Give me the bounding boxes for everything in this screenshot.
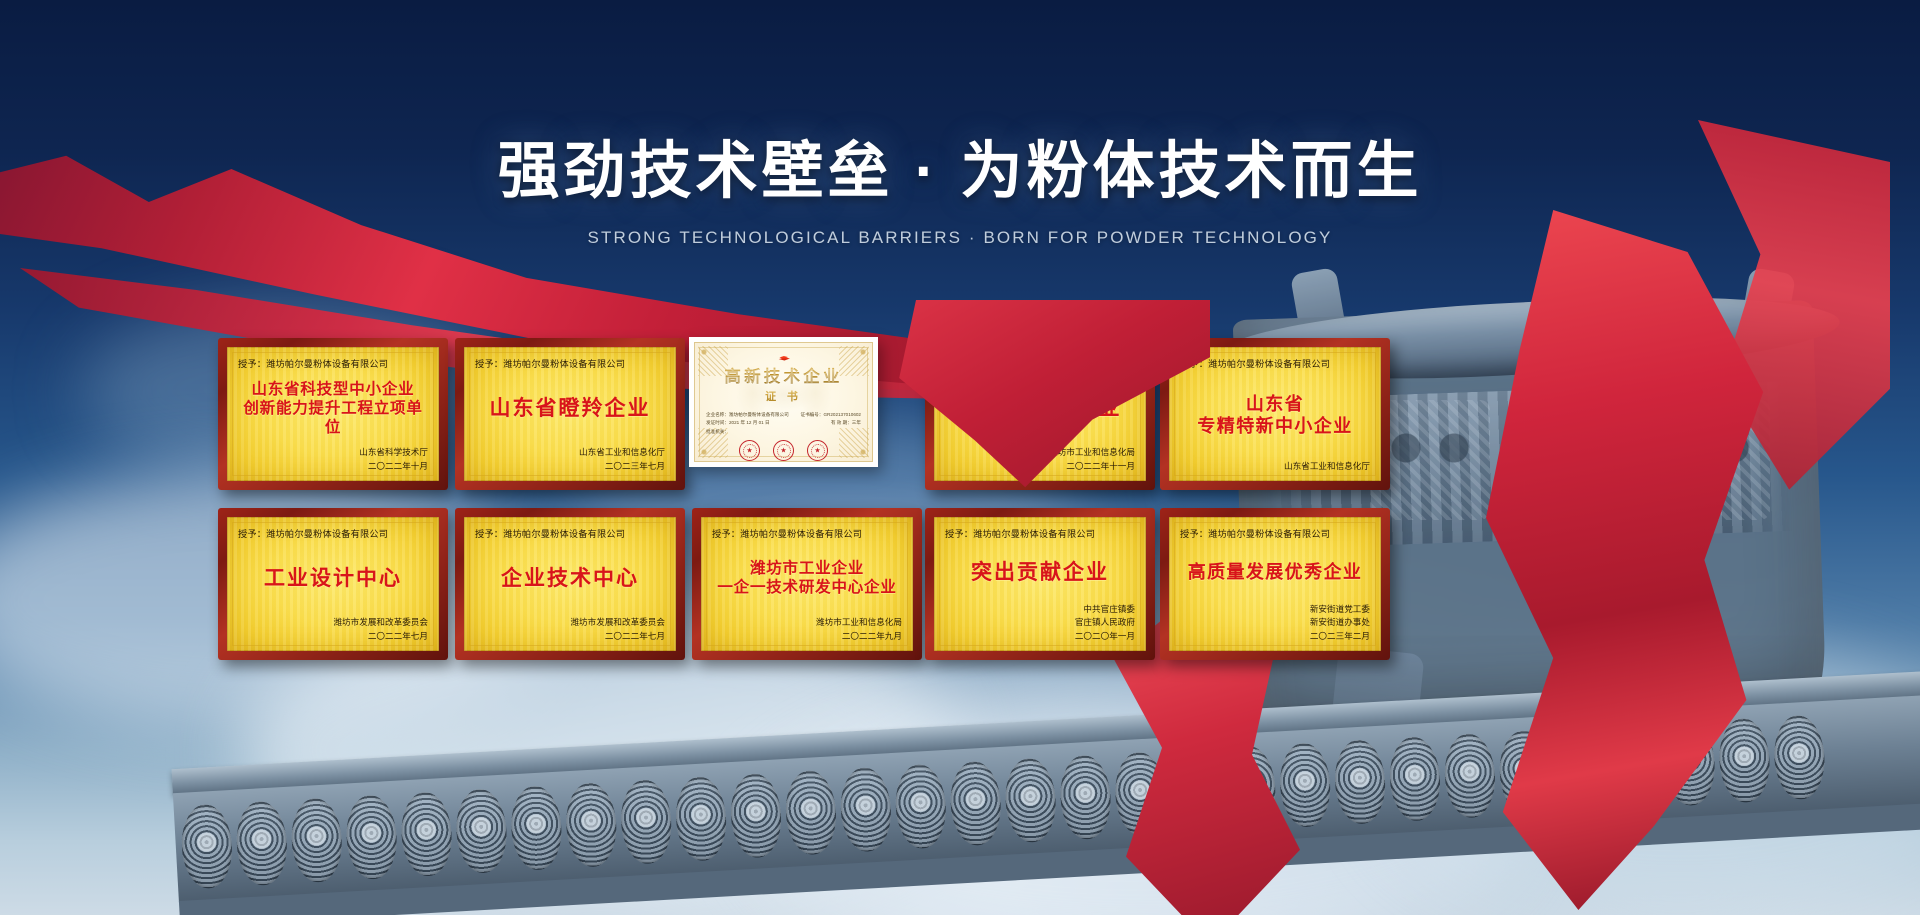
red-star-seal-icon (807, 440, 828, 461)
plaque-issuer: 潍坊市发展和改革委员会二〇二二年七月 (475, 616, 665, 643)
plaque-title-line: 专精特新中小企业 (1180, 416, 1370, 438)
plaque-issuer: 山东省科学技术厅二〇二二年十月 (238, 446, 428, 473)
plaque-title: 山东省专精特新中小企业 (1180, 394, 1370, 438)
plaque-awardee-line: 授予：潍坊帕尔曼粉体设备有限公司 (945, 526, 1135, 540)
plaque-issuer-line: 潍坊市工业和信息化局 (712, 616, 902, 629)
plaque-title-line: 创新能力提升工程立项单位 (238, 400, 428, 438)
certificate-field-row: 批准机关： (706, 428, 861, 436)
certificate-field-right: 有 效 期：三年 (831, 419, 861, 427)
plaque-issuer-line: 官庄镇人民政府 (945, 616, 1135, 629)
plaque-title-line: 一企一技术研发中心企业 (712, 579, 902, 598)
award-plaque[interactable]: 授予：潍坊帕尔曼粉体设备有限公司企业技术中心潍坊市发展和改革委员会二〇二二年七月 (455, 508, 685, 660)
certificate-inner: 高新技术企业 证 书 企业名称：潍坊帕尔曼粉体设备有限公司证书编号：GR2021… (694, 342, 873, 462)
award-plaque[interactable]: 授予：潍坊帕尔曼粉体设备有限公司“隐形冠军”企业潍坊市工业和信息化局二〇二二年十… (925, 338, 1155, 490)
plaque-awardee-line: 授予：潍坊帕尔曼粉体设备有限公司 (238, 526, 428, 540)
plaque-issuer-line: 二〇二三年七月 (475, 460, 665, 473)
banner-stage: 强劲技术壁垒 · 为粉体技术而生 STRONG TECHNOLOGICAL BA… (0, 0, 1920, 915)
plaque-face: 授予：潍坊帕尔曼粉体设备有限公司山东省专精特新中小企业山东省工业和信息化厅 (1169, 347, 1381, 481)
plaque-issuer: 山东省工业和信息化厅 (1180, 460, 1370, 473)
plaque-issuer-line: 山东省科学技术厅 (238, 446, 428, 459)
red-star-seal-icon (739, 440, 760, 461)
plaque-issuer-line: 二〇二二年七月 (238, 630, 428, 643)
gold-corner-ornament-icon (839, 346, 869, 376)
award-plaque[interactable]: 授予：潍坊帕尔曼粉体设备有限公司山东省科技型中小企业创新能力提升工程立项单位山东… (218, 338, 448, 490)
certificate-field-right: 证书编号：GR202137010602 (800, 411, 861, 419)
plaque-title-line: 突出贡献企业 (945, 560, 1135, 586)
plaque-awardee-line: 授予：潍坊帕尔曼粉体设备有限公司 (945, 356, 1135, 370)
plaque-issuer-line: 二〇二二年十月 (238, 460, 428, 473)
plaque-title: 企业技术中心 (475, 566, 665, 592)
plaque-face: 授予：潍坊帕尔曼粉体设备有限公司山东省科技型中小企业创新能力提升工程立项单位山东… (227, 347, 439, 481)
certificate-subtitle: 证 书 (765, 388, 802, 404)
plaque-face: 授予：潍坊帕尔曼粉体设备有限公司“隐形冠军”企业潍坊市工业和信息化局二〇二二年十… (934, 347, 1146, 481)
plaque-issuer-line: 二〇二三年二月 (1180, 630, 1370, 643)
plaque-awardee-line: 授予：潍坊帕尔曼粉体设备有限公司 (238, 356, 428, 370)
page-title: 强劲技术壁垒 · 为粉体技术而生 (0, 138, 1920, 206)
plaque-face: 授予：潍坊帕尔曼粉体设备有限公司潍坊市工业企业一企一技术研发中心企业潍坊市工业和… (701, 517, 913, 651)
plaque-awardee-line: 授予：潍坊帕尔曼粉体设备有限公司 (712, 526, 902, 540)
certificate-field-row: 企业名称：潍坊帕尔曼粉体设备有限公司证书编号：GR202137010602 (706, 411, 861, 419)
plaque-face: 授予：潍坊帕尔曼粉体设备有限公司突出贡献企业中共官庄镇委官庄镇人民政府二〇二〇年… (934, 517, 1146, 651)
plaque-issuer-line: 二〇二二年九月 (712, 630, 902, 643)
plaque-issuer-line: 山东省工业和信息化厅 (475, 446, 665, 459)
plaque-issuer: 中共官庄镇委官庄镇人民政府二〇二〇年一月 (945, 603, 1135, 643)
headline-block: 强劲技术壁垒 · 为粉体技术而生 STRONG TECHNOLOGICAL BA… (0, 138, 1920, 248)
plaque-awardee-line: 授予：潍坊帕尔曼粉体设备有限公司 (1180, 526, 1370, 540)
plaque-title: 山东省瞪羚企业 (475, 396, 665, 422)
plaque-issuer-line: 二〇二〇年一月 (945, 630, 1135, 643)
plaque-issuer-line: 新安街道党工委 (1180, 603, 1370, 616)
plaque-awardee-line: 授予：潍坊帕尔曼粉体设备有限公司 (475, 526, 665, 540)
plaque-issuer-line: 山东省工业和信息化厅 (1180, 460, 1370, 473)
plaque-face: 授予：潍坊帕尔曼粉体设备有限公司高质量发展优秀企业新安街道党工委新安街道办事处二… (1169, 517, 1381, 651)
plaque-title-line: 企业技术中心 (475, 566, 665, 592)
plaque-title: 高质量发展优秀企业 (1180, 562, 1370, 584)
award-plaque[interactable]: 授予：潍坊帕尔曼粉体设备有限公司山东省专精特新中小企业山东省工业和信息化厅 (1160, 338, 1390, 490)
plaque-title-line: 工业设计中心 (238, 566, 428, 592)
plaque-title-line: “隐形冠军”企业 (945, 396, 1135, 422)
high-tech-enterprise-certificate[interactable]: 高新技术企业 证 书 企业名称：潍坊帕尔曼粉体设备有限公司证书编号：GR2021… (689, 337, 878, 467)
plaque-title-line: 山东省 (1180, 394, 1370, 416)
plaque-title: 潍坊市工业企业一企一技术研发中心企业 (712, 560, 902, 598)
plaque-title-line: 山东省瞪羚企业 (475, 396, 665, 422)
certificate-field-left: 企业名称：潍坊帕尔曼粉体设备有限公司 (706, 411, 789, 419)
award-plaque[interactable]: 授予：潍坊帕尔曼粉体设备有限公司高质量发展优秀企业新安街道党工委新安街道办事处二… (1160, 508, 1390, 660)
page-subtitle: STRONG TECHNOLOGICAL BARRIERS · BORN FOR… (0, 228, 1920, 248)
plaque-title: “隐形冠军”企业 (945, 396, 1135, 422)
plaque-issuer: 潍坊市工业和信息化局二〇二二年十一月 (945, 446, 1135, 473)
plaque-title: 工业设计中心 (238, 566, 428, 592)
certificate-field-row: 发证时间：2021 年 12 月 01 日有 效 期：三年 (706, 419, 861, 427)
plaque-awardee-line: 授予：潍坊帕尔曼粉体设备有限公司 (475, 356, 665, 370)
certificate-fields: 企业名称：潍坊帕尔曼粉体设备有限公司证书编号：GR202137010602发证时… (695, 411, 872, 436)
certificate-field-left: 批准机关： (706, 428, 729, 436)
plaque-face: 授予：潍坊帕尔曼粉体设备有限公司企业技术中心潍坊市发展和改革委员会二〇二二年七月 (464, 517, 676, 651)
award-plaque[interactable]: 授予：潍坊帕尔曼粉体设备有限公司潍坊市工业企业一企一技术研发中心企业潍坊市工业和… (692, 508, 922, 660)
plaque-issuer-line: 潍坊市工业和信息化局 (945, 446, 1135, 459)
plaque-awardee-line: 授予：潍坊帕尔曼粉体设备有限公司 (1180, 356, 1370, 370)
plaque-issuer: 潍坊市发展和改革委员会二〇二二年七月 (238, 616, 428, 643)
certificate-field-left: 发证时间：2021 年 12 月 01 日 (706, 419, 770, 427)
plaque-issuer-line: 潍坊市发展和改革委员会 (238, 616, 428, 629)
plaque-issuer-line: 中共官庄镇委 (945, 603, 1135, 616)
plaque-issuer-line: 二〇二二年七月 (475, 630, 665, 643)
award-plaque[interactable]: 授予：潍坊帕尔曼粉体设备有限公司工业设计中心潍坊市发展和改革委员会二〇二二年七月 (218, 508, 448, 660)
plaque-face: 授予：潍坊帕尔曼粉体设备有限公司山东省瞪羚企业山东省工业和信息化厅二〇二三年七月 (464, 347, 676, 481)
plaque-issuer: 新安街道党工委新安街道办事处二〇二三年二月 (1180, 603, 1370, 643)
certificate-seals (739, 440, 828, 461)
plaque-title: 山东省科技型中小企业创新能力提升工程立项单位 (238, 381, 428, 438)
plaque-issuer: 山东省工业和信息化厅二〇二三年七月 (475, 446, 665, 473)
plaque-title: 突出贡献企业 (945, 560, 1135, 586)
plaque-title-line: 高质量发展优秀企业 (1180, 562, 1370, 584)
plaque-title-line: 山东省科技型中小企业 (238, 381, 428, 400)
plaque-issuer-line: 潍坊市发展和改革委员会 (475, 616, 665, 629)
plaque-issuer-line: 二〇二二年十一月 (945, 460, 1135, 473)
plaque-title-line: 潍坊市工业企业 (712, 560, 902, 579)
plaque-issuer: 潍坊市工业和信息化局二〇二二年九月 (712, 616, 902, 643)
award-plaque[interactable]: 授予：潍坊帕尔曼粉体设备有限公司山东省瞪羚企业山东省工业和信息化厅二〇二三年七月 (455, 338, 685, 490)
certificate-title: 高新技术企业 (724, 363, 842, 387)
award-plaque[interactable]: 授予：潍坊帕尔曼粉体设备有限公司突出贡献企业中共官庄镇委官庄镇人民政府二〇二〇年… (925, 508, 1155, 660)
red-star-seal-icon (773, 440, 794, 461)
plaque-face: 授予：潍坊帕尔曼粉体设备有限公司工业设计中心潍坊市发展和改革委员会二〇二二年七月 (227, 517, 439, 651)
plaque-issuer-line: 新安街道办事处 (1180, 616, 1370, 629)
